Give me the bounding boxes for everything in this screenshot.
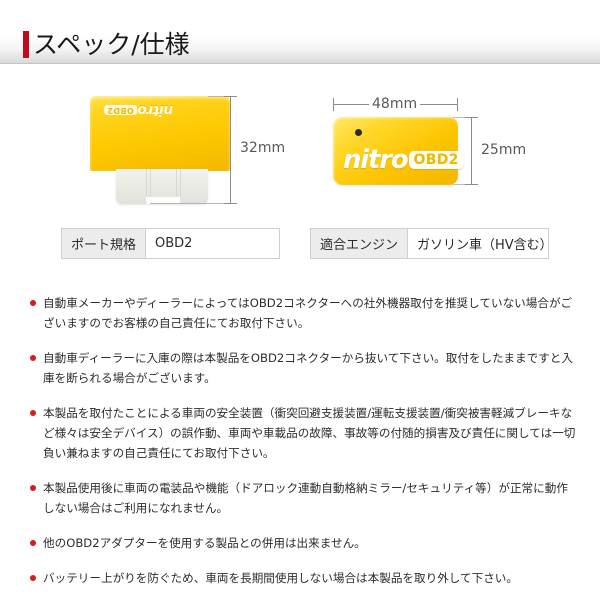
note-text: 自動車メーカーやディーラーによってはOBD2コネクターへの社外機器取付を推奨して…: [43, 296, 572, 330]
logo-nitro-text: nitro: [138, 103, 173, 117]
spec-header-cell: 適合エンジン: [311, 229, 408, 258]
bullet-dot-icon: [30, 410, 36, 416]
led-caption-text: Plug And Drive: [346, 139, 378, 144]
bullet-dot-icon: [30, 355, 36, 361]
logo-obd2-badge: OBD2: [104, 105, 137, 115]
logo-obd2-badge: OBD2: [409, 151, 464, 169]
dimension-line-vertical: [471, 117, 472, 185]
header-accent-bar: [23, 31, 29, 58]
spec-tables: ポート規格 OBD2 適合エンジン ガソリン車（HV含む）: [0, 228, 600, 268]
dimension-label-height: 32mm: [240, 140, 285, 156]
connector-seam: [146, 169, 147, 198]
note-text: 自動車ディーラーに入庫の際は本製品をOBD2コネクターから抜いて下さい。取付をし…: [43, 351, 573, 385]
list-item: 他のOBD2アダプターを使用する製品との併用は出来ません。: [30, 533, 578, 553]
section-header: スペック/仕様: [0, 26, 600, 64]
page-title: スペック/仕様: [33, 32, 190, 57]
bullet-dot-icon: [30, 300, 36, 306]
device-body-top: Plug And Drive nitro OBD2 .: [333, 117, 458, 185]
list-item: バッテリー上がりを防ぐため、車両を長期間使用しない場合は本製品を取り外して下さい…: [30, 568, 578, 588]
device-body-side: nitro OBD2: [90, 96, 230, 171]
list-item: 本製品を取付たことによる車両の安全装置（衝突回避支援装置/運転支援装置/衝突被害…: [30, 403, 578, 463]
spec-table-engine: 適合エンジン ガソリン車（HV含む）: [310, 228, 549, 259]
bullet-dot-icon: [30, 485, 36, 491]
list-item: 本製品使用後に車両の電装品や機能（ドアロック連動自動格納ミラー/セキュリティ等）…: [30, 478, 578, 518]
dimension-label-width: 48mm: [369, 96, 420, 112]
logo-nitro-text: nitro: [343, 147, 408, 173]
spec-header-cell: ポート規格: [62, 229, 146, 258]
dimension-leader-line-bottom: [150, 203, 232, 204]
dimension-label-height: 25mm: [481, 142, 526, 158]
note-text: 他のOBD2アダプターを使用する製品との併用は出来ません。: [43, 536, 366, 550]
product-figures: nitro OBD2 32mm 48mm Plug And Drive nitr…: [0, 72, 600, 220]
list-item: 自動車メーカーやディーラーによってはOBD2コネクターへの社外機器取付を推奨して…: [30, 293, 578, 333]
obd2-connector-plug: [116, 169, 208, 204]
connector-seam: [180, 169, 181, 198]
figure-side-view: nitro OBD2 32mm: [90, 96, 255, 211]
bullet-dot-icon: [30, 575, 36, 581]
connector-seam: [150, 169, 151, 198]
led-indicator-icon: [355, 129, 362, 136]
figure-top-view: 48mm Plug And Drive nitro OBD2 . 25mm: [333, 92, 533, 212]
list-item: 自動車ディーラーに入庫の際は本製品をOBD2コネクターから抜いて下さい。取付をし…: [30, 348, 578, 388]
spec-value-cell: OBD2: [146, 229, 279, 258]
dimension-line-horizontal: 48mm: [333, 104, 458, 105]
notes-list: 自動車メーカーやディーラーによってはOBD2コネクターへの社外機器取付を推奨して…: [30, 293, 578, 588]
device-logo-upside-down: nitro OBD2: [104, 103, 173, 117]
bullet-dot-icon: [30, 540, 36, 546]
device-logo: nitro OBD2 .: [343, 147, 464, 173]
note-text: 本製品を取付たことによる車両の安全装置（衝突回避支援装置/運転支援装置/衝突被害…: [43, 406, 575, 460]
spec-value-cell: ガソリン車（HV含む）: [408, 229, 562, 258]
note-text: 本製品使用後に車両の電装品や機能（ドアロック連動自動格納ミラー/セキュリティ等）…: [43, 481, 568, 515]
spec-table-port: ポート規格 OBD2: [61, 228, 280, 259]
dimension-line-vertical: [230, 96, 231, 204]
logo-registered-mark: .: [459, 155, 462, 164]
note-text: バッテリー上がりを防ぐため、車両を長期間使用しない場合は本製品を取り外して下さい…: [43, 571, 518, 585]
connector-seam: [176, 169, 177, 198]
